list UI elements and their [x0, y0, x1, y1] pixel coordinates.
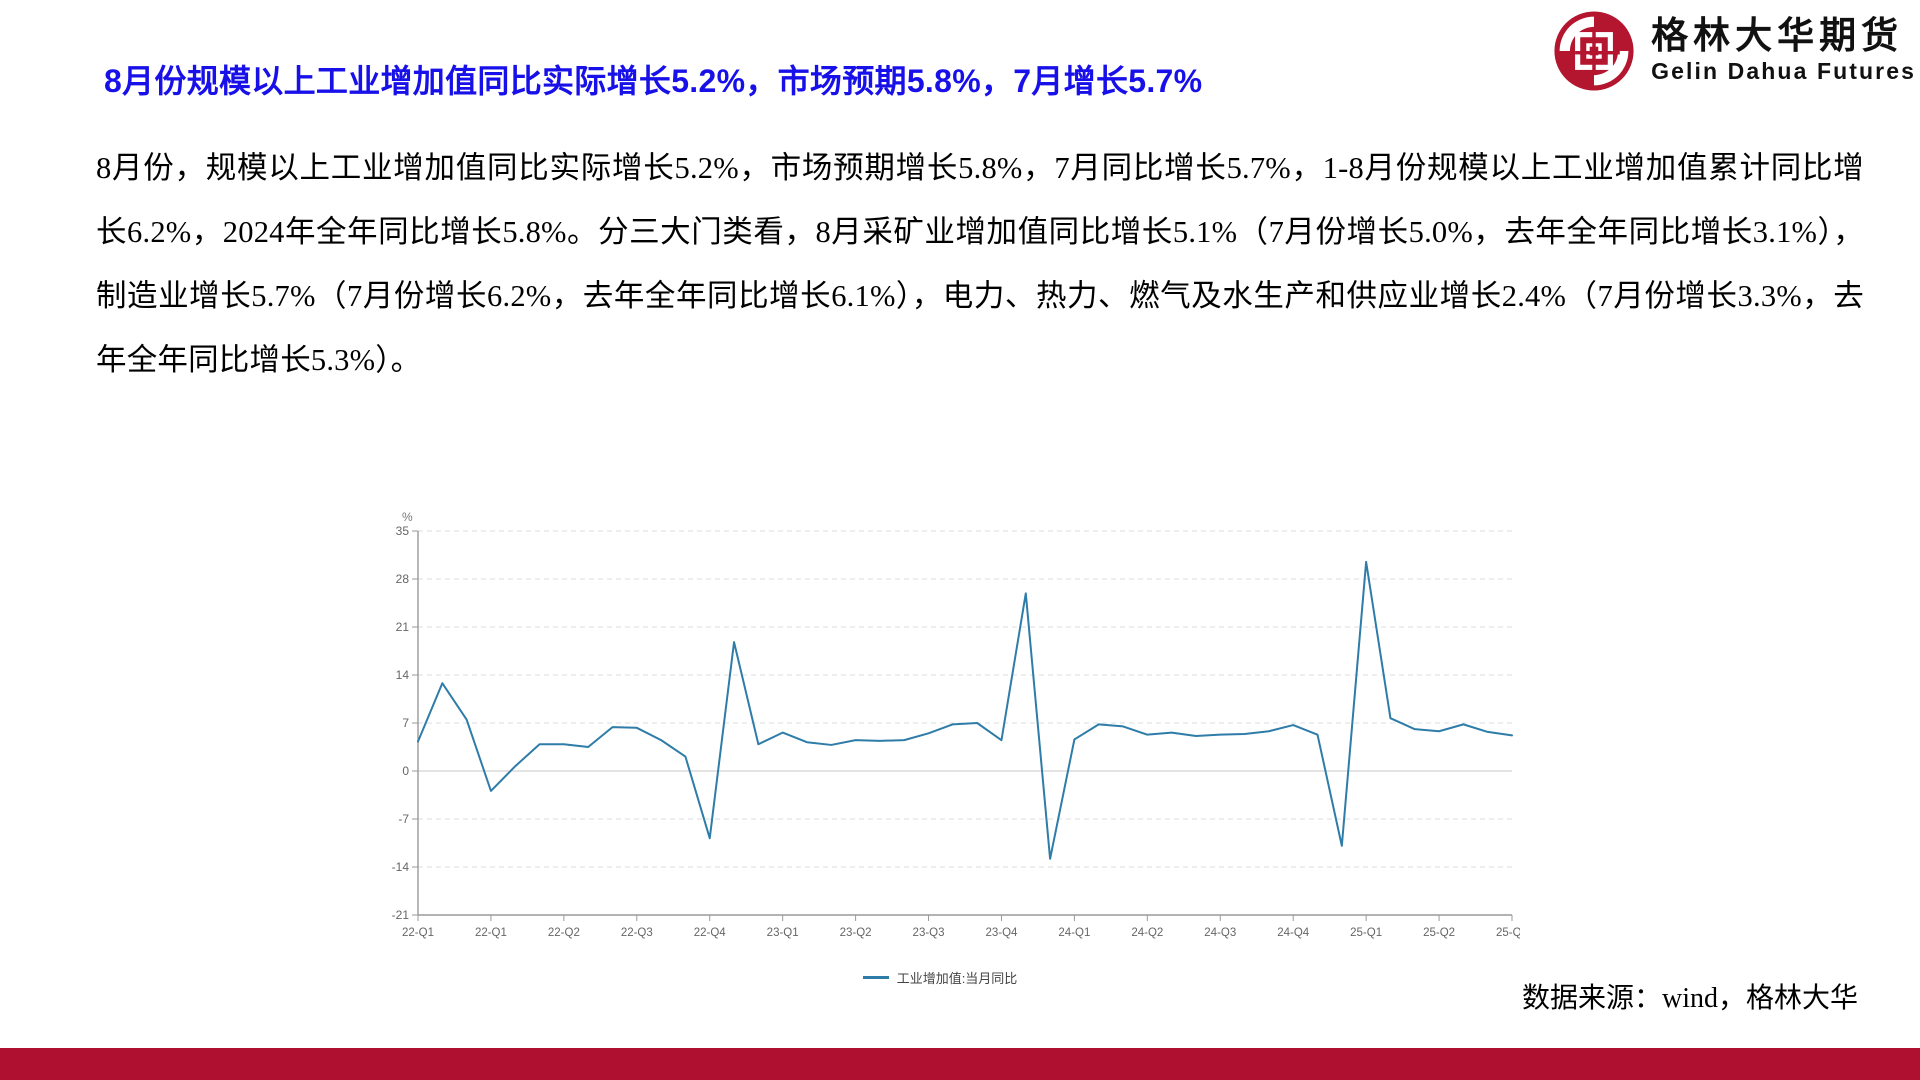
svg-text:22-Q1: 22-Q1: [402, 927, 434, 939]
logo-wordmark: 格林大华期货 Gelin Dahua Futures: [1651, 16, 1916, 85]
logo-english-name: Gelin Dahua Futures: [1651, 58, 1916, 85]
svg-text:21: 21: [396, 620, 410, 634]
chart-canvas: 3528211470-7-14-21 22-Q122-Q122-Q222-Q32…: [360, 505, 1520, 965]
company-logo: 格林大华期货 Gelin Dahua Futures: [1551, 8, 1916, 94]
legend-color-swatch: [863, 976, 889, 979]
logo-chinese-name: 格林大华期货: [1651, 16, 1916, 56]
chart-y-axis: 3528211470-7-14-21: [392, 524, 418, 922]
svg-text:24-Q3: 24-Q3: [1204, 927, 1236, 939]
legend-label-industrial-output: 工业增加值:当月同比: [897, 968, 1018, 987]
chart-x-axis: 22-Q122-Q122-Q222-Q322-Q423-Q123-Q223-Q3…: [402, 915, 1520, 939]
svg-text:25-Q2: 25-Q2: [1423, 927, 1455, 939]
page-title: 8月份规模以上工业增加值同比实际增长5.2%，市场预期5.8%，7月增长5.7%: [104, 56, 1202, 102]
svg-text:-7: -7: [398, 812, 409, 826]
body-paragraph: 8月份，规模以上工业增加值同比实际增长5.2%，市场预期增长5.8%，7月同比增…: [96, 136, 1864, 392]
svg-text:24-Q2: 24-Q2: [1131, 927, 1163, 939]
gelin-dahua-seal-icon: [1551, 8, 1637, 94]
svg-text:23-Q4: 23-Q4: [985, 927, 1018, 939]
svg-text:14: 14: [396, 668, 410, 682]
svg-text:23-Q1: 23-Q1: [767, 927, 799, 939]
chart-unit-label: %: [402, 510, 413, 524]
svg-text:24-Q4: 24-Q4: [1277, 927, 1310, 939]
svg-text:22-Q1: 22-Q1: [475, 927, 507, 939]
svg-text:22-Q4: 22-Q4: [694, 927, 727, 939]
svg-text:28: 28: [396, 572, 410, 586]
svg-text:25-Q3: 25-Q3: [1496, 927, 1520, 939]
data-source-note: 数据来源：wind，格林大华: [1522, 976, 1858, 1016]
svg-text:22-Q2: 22-Q2: [548, 927, 580, 939]
chart-series-group: [418, 562, 1512, 859]
svg-text:25-Q1: 25-Q1: [1350, 927, 1382, 939]
svg-text:23-Q2: 23-Q2: [840, 927, 872, 939]
svg-text:23-Q3: 23-Q3: [913, 927, 945, 939]
footer-bar: [0, 1048, 1920, 1080]
svg-text:-14: -14: [392, 860, 410, 874]
svg-text:7: 7: [402, 716, 409, 730]
industrial-output-line-chart: 3528211470-7-14-21 22-Q122-Q122-Q222-Q32…: [360, 505, 1520, 1005]
svg-text:35: 35: [396, 524, 410, 538]
svg-text:-21: -21: [392, 908, 410, 922]
svg-text:24-Q1: 24-Q1: [1058, 927, 1090, 939]
svg-text:22-Q3: 22-Q3: [621, 927, 653, 939]
svg-text:0: 0: [402, 764, 409, 778]
chart-legend: 工业增加值:当月同比: [360, 968, 1520, 987]
